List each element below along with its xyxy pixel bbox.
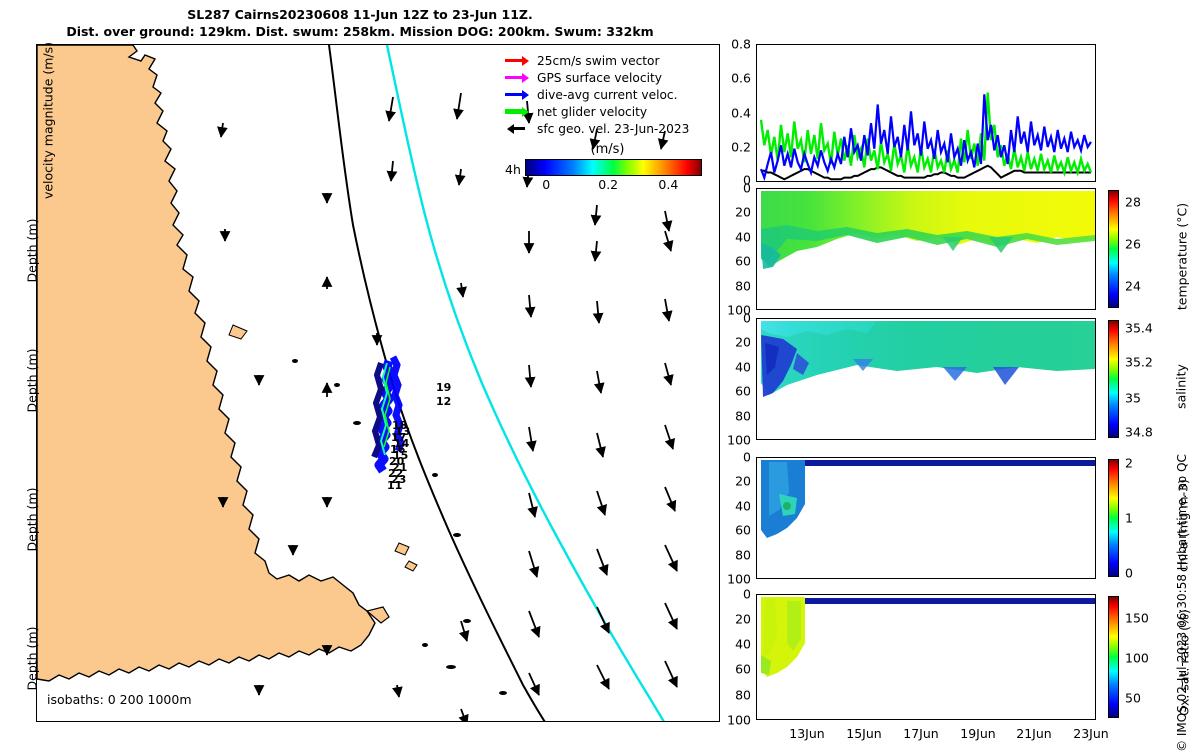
cbar-tick: 28 <box>1125 195 1141 210</box>
oxygen-colorbar-ticks: 150 100 50 <box>1108 596 1119 718</box>
y-tick: 80 <box>735 279 751 294</box>
colorbar-tick: 0.2 <box>598 177 618 192</box>
swim-vector-arrow-icon <box>505 56 531 66</box>
colorbar-tick: 0.4 <box>658 177 678 192</box>
cbar-tick: 0 <box>1125 566 1133 581</box>
temperature-colorbar-label: temperature (°C) <box>1175 187 1190 327</box>
y-tick: 0 <box>743 587 751 602</box>
y-tick: 0.6 <box>731 71 751 86</box>
y-tick: 0.2 <box>731 140 751 155</box>
net-glider-velocity-arrow-icon <box>505 107 531 117</box>
title-line-2: Dist. over ground: 129km. Dist. swum: 25… <box>0 23 720 40</box>
title-line-1: SL287 Cairns20230608 11-Jun 12Z to 23-Ju… <box>0 6 720 23</box>
y-tick: 0.4 <box>731 106 751 121</box>
y-tick: 60 <box>735 662 751 677</box>
y-tick: 0 <box>743 450 751 465</box>
cbar-tick: 35.2 <box>1125 355 1153 370</box>
y-tick: 0.8 <box>731 37 751 52</box>
y-tick: 100 <box>727 572 751 587</box>
salinity-tongue-1 <box>943 367 967 381</box>
vector-interval-label: 4h <box>505 162 521 177</box>
legend-label: dive-avg current veloc. <box>537 88 678 102</box>
gps-velocity-arrow-icon <box>505 73 531 83</box>
cbar-tick: 34.8 <box>1125 425 1153 440</box>
y-tick: 60 <box>735 384 751 399</box>
y-tick: 20 <box>735 612 751 627</box>
y-tick: 0 <box>743 311 751 326</box>
credit-text: © IMOS 02-Jul-2023 06:30:58 Hobart time.… <box>1175 453 1189 753</box>
cbar-tick: 100 <box>1125 651 1149 666</box>
chlorophyll-colorbar-ticks: 2 1 0 <box>1108 459 1119 577</box>
chlorophyll-y-axis-label: Depth (m) <box>25 465 40 575</box>
day-label: 19 <box>436 381 451 394</box>
y-tick: 40 <box>735 360 751 375</box>
salinity-colorbar-label: salinity <box>1174 332 1189 442</box>
y-tick: 40 <box>735 637 751 652</box>
temperature-y-axis-label: Depth (m) <box>25 196 40 306</box>
time-tick: 15Jun <box>846 726 881 741</box>
oxygen-section-panel[interactable] <box>756 594 1096 720</box>
day-label: 11 <box>387 479 402 492</box>
salinity-field-upper <box>761 321 1095 395</box>
velocity-plot-area <box>757 45 1095 181</box>
cbar-tick: 50 <box>1125 691 1141 706</box>
cbar-tick: 24 <box>1125 279 1141 294</box>
chlorophyll-plot-area <box>757 458 1095 578</box>
legend-item-swim-vector: 25cm/s swim vector <box>505 52 710 69</box>
y-tick: 100 <box>727 433 751 448</box>
legend-item-sfc-geo-velocity: sfc geo. vel. 23-Jun-2023 <box>505 120 710 137</box>
time-axis: 13Jun 15Jun 17Jun 19Jun 21Jun 23Jun <box>756 720 1096 721</box>
salinity-y-axis-label: Depth (m) <box>25 326 40 436</box>
day-label: 12 <box>436 395 451 408</box>
y-tick: 0 <box>743 181 751 196</box>
y-tick: 20 <box>735 335 751 350</box>
temperature-plot-area <box>757 189 1095 309</box>
cbar-tick: 2 <box>1125 456 1133 471</box>
isobaths-label: isobaths: 0 200 1000m <box>47 692 192 707</box>
velocity-colorbar <box>525 159 702 176</box>
cbar-tick: 35 <box>1125 391 1141 406</box>
salinity-tongue-2 <box>993 367 1019 385</box>
temperature-section-panel[interactable] <box>756 188 1096 310</box>
colorbar-tick: 0 <box>542 177 550 192</box>
legend-item-dive-avg-current: dive-avg current veloc. <box>505 86 710 103</box>
y-tick: 100 <box>727 713 751 728</box>
velocity-y-axis-label: velocity magnitude (m/s) <box>41 41 56 201</box>
y-tick: 20 <box>735 474 751 489</box>
velocity-timeseries-panel[interactable] <box>756 44 1096 182</box>
time-tick: 17Jun <box>903 726 938 741</box>
velocity-colorbar-ticks: 0 0.2 0.4 <box>525 177 702 193</box>
salinity-section-panel[interactable] <box>756 318 1096 440</box>
y-tick: 20 <box>735 205 751 220</box>
page-title: SL287 Cairns20230608 11-Jun 12Z to 23-Ju… <box>0 6 720 40</box>
oxygen-plot-area <box>757 595 1095 719</box>
oxygen-y-axis-label: Depth (m) <box>25 604 40 714</box>
time-tick: 19Jun <box>960 726 995 741</box>
y-tick: 60 <box>735 254 751 269</box>
chlorophyll-section-panel[interactable] <box>756 457 1096 579</box>
time-tick: 21Jun <box>1016 726 1051 741</box>
temperature-colorbar-ticks: 28 26 24 <box>1108 190 1119 308</box>
salinity-colorbar-ticks: 35.4 35.2 35 34.8 <box>1108 320 1119 438</box>
legend-label: net glider velocity <box>537 105 647 119</box>
dive-avg-current-arrow-icon <box>505 90 531 100</box>
legend-label: GPS surface velocity <box>537 71 662 85</box>
velocity-colorbar-caption: (m/s) <box>505 142 710 157</box>
legend-label: sfc geo. vel. 23-Jun-2023 <box>537 122 689 136</box>
cbar-tick: 150 <box>1125 611 1149 626</box>
cbar-tick: 26 <box>1125 237 1141 252</box>
chl-max-core <box>783 502 791 510</box>
cbar-tick: 35.4 <box>1125 321 1153 336</box>
y-tick: 40 <box>735 499 751 514</box>
time-tick: 13Jun <box>789 726 824 741</box>
y-tick: 80 <box>735 688 751 703</box>
y-tick: 60 <box>735 523 751 538</box>
temperature-field-upper <box>761 191 1095 267</box>
legend-item-net-glider-velocity: net glider velocity <box>505 103 710 120</box>
cbar-tick: 1 <box>1125 511 1133 526</box>
y-tick: 80 <box>735 409 751 424</box>
y-tick: 80 <box>735 548 751 563</box>
y-tick: 40 <box>735 230 751 245</box>
time-tick: 23Jun <box>1073 726 1108 741</box>
map-legend: 25cm/s swim vector GPS surface velocity … <box>505 52 710 193</box>
salinity-plot-area <box>757 319 1095 439</box>
legend-item-gps-surface-velocity: GPS surface velocity <box>505 69 710 86</box>
legend-label: 25cm/s swim vector <box>537 54 660 68</box>
sfc-geo-velocity-arrow-icon <box>505 124 531 134</box>
